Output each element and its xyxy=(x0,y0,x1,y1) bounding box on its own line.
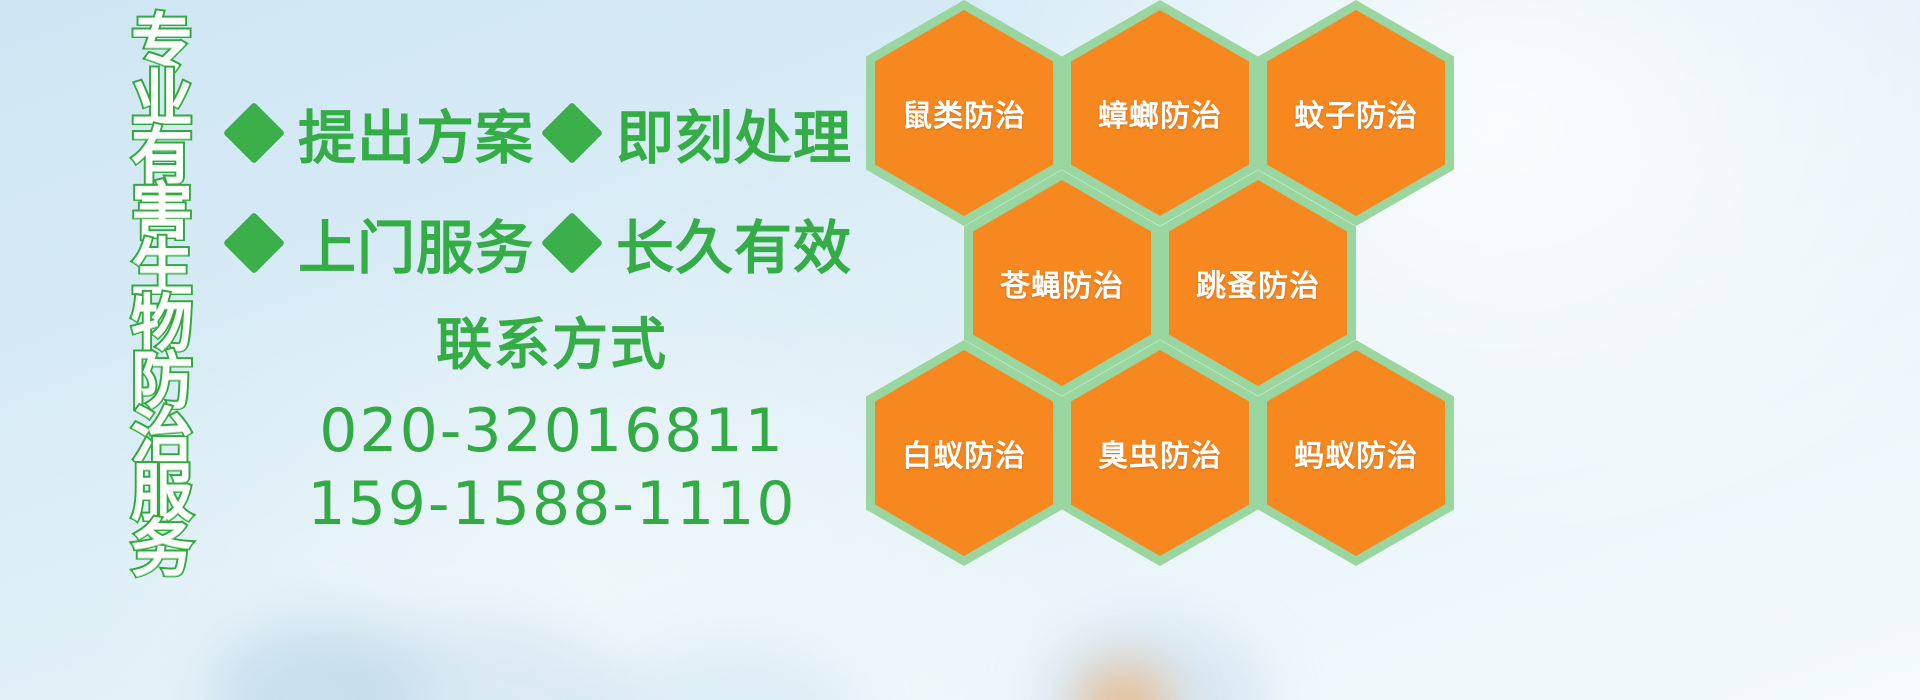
service-hex-label: 鼠类防治 xyxy=(902,91,1026,135)
feature-row: 提出方案 即刻处理 xyxy=(232,78,872,188)
feature-list: 提出方案 即刻处理 上门服务 长久有效 xyxy=(232,78,872,298)
background-bokeh-blob xyxy=(600,640,860,700)
feature-item: 长久有效 xyxy=(550,201,852,285)
vertical-title: 专 业 有 害 生 物 防 治 服 务 xyxy=(104,14,220,577)
background-bokeh-blob xyxy=(210,620,430,700)
service-hex-label: 跳蚤防治 xyxy=(1196,261,1320,305)
feature-item: 提出方案 xyxy=(232,91,550,175)
service-hex-label: 苍蝇防治 xyxy=(1000,261,1124,305)
contact-phone-landline[interactable]: 020-32016811 xyxy=(232,395,872,468)
service-hex-label: 臭虫防治 xyxy=(1098,431,1222,475)
feature-label: 提出方案 xyxy=(298,91,534,175)
service-hex-label: 蟑螂防治 xyxy=(1098,91,1222,135)
feature-label: 上门服务 xyxy=(298,201,534,285)
contact-block: 联系方式 020-32016811 159-1588-1110 xyxy=(232,300,872,541)
contact-phone-mobile[interactable]: 159-1588-1110 xyxy=(232,468,872,541)
service-hex-label: 蚂蚁防治 xyxy=(1294,431,1418,475)
diamond-bullet-icon xyxy=(223,212,285,274)
service-honeycomb: 鼠类防治 蟑螂防治 蚊子防治 苍蝇防治 跳蚤防治 白蚁防治 臭虫防治 xyxy=(862,0,1462,700)
feature-row: 上门服务 长久有效 xyxy=(232,188,872,298)
vertical-title-char: 务 xyxy=(131,520,193,578)
diamond-bullet-icon xyxy=(223,102,285,164)
diamond-bullet-icon xyxy=(541,212,603,274)
promo-banner: 专 业 有 害 生 物 防 治 服 务 提出方案 即刻处理 上门服务 xyxy=(0,0,1920,700)
feature-item: 即刻处理 xyxy=(550,91,852,175)
service-hex-label: 蚊子防治 xyxy=(1294,91,1418,135)
diamond-bullet-icon xyxy=(541,102,603,164)
feature-label: 即刻处理 xyxy=(616,91,852,175)
contact-title: 联系方式 xyxy=(232,300,872,381)
feature-item: 上门服务 xyxy=(232,201,550,285)
service-hex-label: 白蚁防治 xyxy=(902,431,1026,475)
feature-label: 长久有效 xyxy=(616,201,852,285)
background-bokeh-blob xyxy=(330,620,630,700)
